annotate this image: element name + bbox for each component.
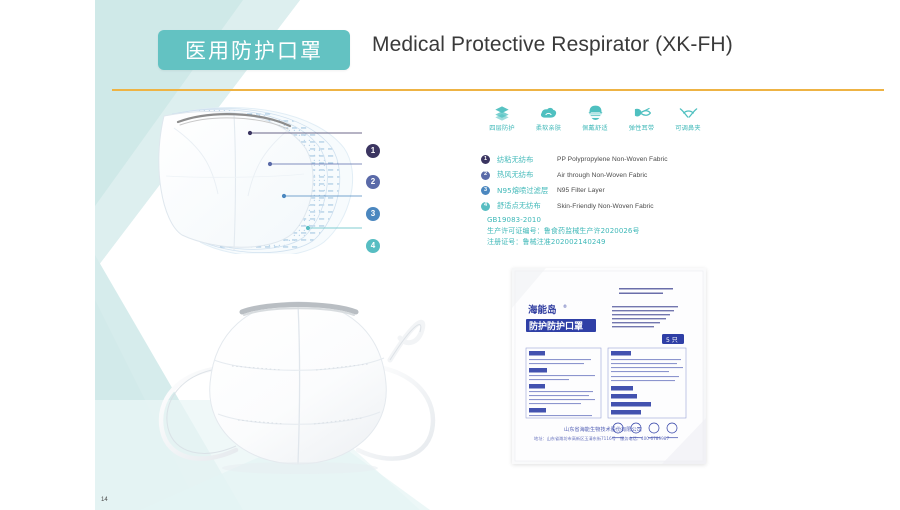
callout-badge-3: 3	[366, 207, 380, 221]
callout-badge-2: 2	[366, 175, 380, 189]
callout-badge-1: 1	[366, 144, 380, 158]
ear-loop-icon	[633, 104, 651, 121]
feature-item-4-label: 可调鼻夹	[675, 123, 701, 132]
legend-row-3-badge: 4	[481, 202, 490, 211]
mask-layer-cutaway-illustration	[148, 104, 398, 254]
feature-item-0-label: 四层防护	[489, 123, 515, 132]
feature-item-3-label: 弹性耳带	[629, 123, 655, 132]
legend-row-2: 3 N95熔喷过滤层 N95 Filter Layer	[481, 183, 781, 198]
legend-row-0-num: 1	[484, 157, 487, 163]
legend-row-1-badge: 2	[481, 171, 490, 180]
legend-row-3-num: 4	[484, 203, 487, 209]
legend-row-1-num: 2	[484, 172, 487, 178]
slide-root: 医用防护口罩 Medical Protective Respirator (XK…	[0, 0, 900, 510]
legend-row-3: 4 舒适点无纺布 Skin-Friendly Non-Woven Fabric	[481, 199, 781, 214]
legend-row-3-cn: 舒适点无纺布	[497, 201, 557, 211]
legend-row-1: 2 热风无纺布 Air through Non-Woven Fabric	[481, 168, 781, 183]
legend-row-0-cn: 纺粘无纺布	[497, 155, 557, 165]
callout-badge-3-label: 3	[371, 210, 375, 218]
feature-item-1: 柔软亲肤	[527, 104, 571, 132]
feature-item-0: 四层防护	[480, 104, 524, 132]
header-divider-rule	[112, 89, 884, 91]
callout-badge-4: 4	[366, 239, 380, 253]
feature-item-2: 佩戴舒适	[573, 104, 617, 132]
title-chip: 医用防护口罩	[158, 30, 350, 70]
nose-clip-icon	[679, 104, 698, 121]
feature-item-2-label: 佩戴舒适	[582, 123, 608, 132]
cert-registration: 注册证号：鲁械注准202002140249	[487, 237, 640, 248]
certification-block: GB19083-2010 生产许可证编号：鲁食药监械生产许2020026号 注册…	[487, 215, 640, 248]
callout-badge-4-label: 4	[371, 242, 375, 250]
feature-item-3: 弹性耳带	[620, 104, 664, 132]
legend-row-2-cn: N95熔喷过滤层	[497, 186, 557, 196]
legend-row-2-badge: 3	[481, 186, 490, 195]
svg-text:5 只: 5 只	[666, 337, 678, 344]
page-number: 14	[101, 497, 108, 503]
legend-row-1-cn: 热风无纺布	[497, 170, 557, 180]
cloud-soft-icon	[540, 104, 557, 121]
feature-item-4: 可调鼻夹	[666, 104, 710, 132]
feature-icon-row: 四层防护 柔软亲肤 佩戴舒适	[480, 104, 710, 140]
legend-row-0-badge: 1	[481, 155, 490, 164]
legend-row-2-en: N95 Filter Layer	[557, 187, 605, 194]
cert-standard: GB19083-2010	[487, 215, 640, 226]
face-mask-icon	[588, 104, 603, 121]
feature-item-1-label: 柔软亲肤	[536, 123, 562, 132]
page-title-cn: 医用防护口罩	[185, 35, 323, 65]
cert-license: 生产许可证编号：鲁食药监械生产许2020026号	[487, 226, 640, 237]
svg-text:®: ®	[563, 304, 567, 309]
package-product-photo: 海能岛 ® 防护防护口罩 5 只	[512, 268, 706, 464]
callout-badge-1-label: 1	[371, 147, 375, 155]
legend-row-3-en: Skin-Friendly Non-Woven Fabric	[557, 203, 654, 210]
legend-row-0: 1 纺粘无纺布 PP Polypropylene Non-Woven Fabri…	[481, 152, 781, 167]
callout-badge-2-label: 2	[371, 178, 375, 186]
legend-row-0-en: PP Polypropylene Non-Woven Fabric	[557, 156, 668, 163]
legend-row-2-num: 3	[484, 188, 487, 194]
layers-icon	[494, 104, 510, 121]
slide-header: 医用防护口罩 Medical Protective Respirator (XK…	[0, 0, 900, 82]
svg-text:地址：山东省潍坊市高新区玉清东街7116号 服务电话：400: 地址：山东省潍坊市高新区玉清东街7116号 服务电话：400-6789987	[534, 435, 669, 442]
folded-mask-product-photo	[150, 288, 450, 493]
legend-row-1-en: Air through Non-Woven Fabric	[557, 172, 647, 179]
page-title-en: Medical Protective Respirator (XK-FH)	[372, 33, 733, 57]
layer-legend-list: 1 纺粘无纺布 PP Polypropylene Non-Woven Fabri…	[481, 152, 781, 214]
svg-text:山东省海能生物技术股份有限公司: 山东省海能生物技术股份有限公司	[564, 425, 642, 433]
svg-text:海能岛: 海能岛	[528, 304, 557, 316]
svg-text:防护防护口罩: 防护防护口罩	[529, 320, 583, 332]
